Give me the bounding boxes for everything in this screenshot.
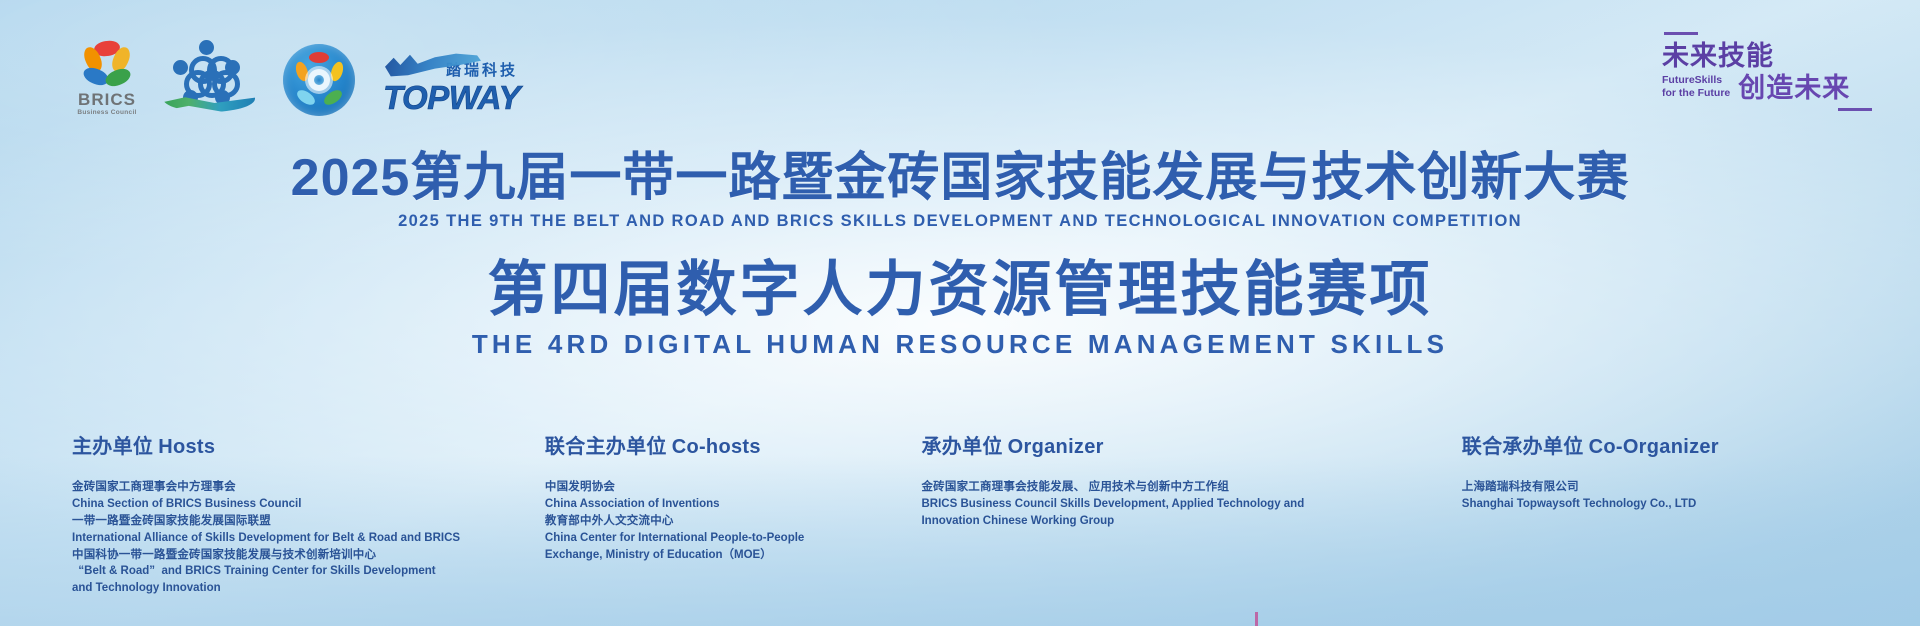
cast-training-center-logo: [283, 44, 355, 116]
organizer-heading-cn: 联合主办单位: [545, 436, 667, 458]
organizer-heading: 承办单位Organizer: [921, 430, 1435, 459]
organizer-line: “Belt & Road” and BRICS Training Center …: [72, 563, 519, 580]
organizer-heading-cn: 主办单位: [72, 436, 153, 458]
organizer-line: 中国科协一带一路暨金砖国家技能发展与技术创新培训中心: [72, 547, 519, 564]
organizer-line: 一带一路暨金砖国家技能发展国际联盟: [72, 513, 519, 530]
topway-en-wordmark: TOPWAY: [383, 81, 520, 114]
main-title-en: 2025 THE 9TH THE BELT AND ROAD AND BRICS…: [0, 212, 1920, 231]
cast-disc-icon: [283, 44, 355, 116]
organizer-heading: 联合主办单位Co-hosts: [545, 430, 896, 459]
slogan-en: FutureSkills for the Future: [1662, 74, 1730, 102]
organizer-line: International Alliance of Skills Develop…: [72, 530, 519, 547]
organizer-line: 金砖国家工商理事会中方理事会: [72, 479, 519, 496]
organizer-heading-en: Hosts: [158, 436, 215, 458]
organizer-heading-cn: 承办单位: [921, 436, 1002, 458]
organizer-line: Shanghai Topwaysoft Technology Co., LTD: [1462, 496, 1822, 513]
slogan-bottom-rule: [1838, 108, 1872, 111]
organizer-line: Innovation Chinese Working Group: [921, 513, 1435, 530]
organizer-line: China Association of Inventions: [545, 496, 896, 513]
brics-business-council-logo: BRICS Business Council: [75, 40, 139, 116]
organizer-line: 上海踏瑞科技有限公司: [1462, 479, 1822, 496]
organizer-column-0: 主办单位Hosts金砖国家工商理事会中方理事会China Section of …: [72, 430, 545, 597]
organizer-columns: 主办单位Hosts金砖国家工商理事会中方理事会China Section of …: [0, 430, 1920, 597]
main-title-cn: 2025第九届一带一路暨金砖国家技能发展与技术创新大赛: [0, 150, 1920, 206]
organizer-line: BRICS Business Council Skills Developmen…: [921, 496, 1435, 513]
organizer-line: 中国发明协会: [545, 479, 896, 496]
bottom-accent-mark: [1255, 612, 1258, 626]
organizer-line: 金砖国家工商理事会技能发展、 应用技术与创新中方工作组: [921, 479, 1435, 496]
alliance-wave-icon: [163, 96, 255, 112]
competition-banner: BRICS Business Council: [0, 0, 1920, 626]
organizer-heading-cn: 联合承办单位: [1462, 436, 1584, 458]
brics-subtitle: Business Council: [75, 109, 139, 116]
organizer-heading-en: Co-Organizer: [1589, 436, 1719, 458]
organizer-heading: 主办单位Hosts: [72, 430, 519, 459]
topway-logo: 踏瑞科技 TOPWAY: [383, 59, 520, 114]
organizer-line: China Center for International People-to…: [545, 530, 896, 547]
organizer-line: Exchange, Ministry of Education（MOE）: [545, 547, 896, 564]
futureskills-slogan: 未来技能 FutureSkills for the Future 创造未来: [1662, 32, 1872, 111]
slogan-cn-line-1: 未来技能: [1662, 42, 1872, 72]
organizer-line: 教育部中外人文交流中心: [545, 513, 896, 530]
organizer-heading: 联合承办单位Co-Organizer: [1462, 430, 1822, 459]
slogan-top-rule: [1664, 32, 1698, 35]
international-alliance-logo: [167, 36, 255, 116]
organizer-heading-en: Co-hosts: [672, 436, 761, 458]
brics-wordmark: BRICS: [75, 91, 139, 109]
organizer-line: China Section of BRICS Business Council: [72, 496, 519, 513]
brics-star-icon: [79, 40, 135, 90]
title-block: 2025第九届一带一路暨金砖国家技能发展与技术创新大赛 2025 THE 9TH…: [0, 150, 1920, 360]
organizer-column-1: 联合主办单位Co-hosts中国发明协会China Association of…: [545, 430, 922, 597]
sponsor-logo-strip: BRICS Business Council: [75, 36, 520, 116]
organizer-line: and Technology Innovation: [72, 580, 519, 597]
organizer-column-2: 承办单位Organizer金砖国家工商理事会技能发展、 应用技术与创新中方工作组…: [921, 430, 1461, 597]
organizer-column-3: 联合承办单位Co-Organizer上海踏瑞科技有限公司Shanghai Top…: [1462, 430, 1848, 597]
slogan-cn-line-2: 创造未来: [1738, 74, 1850, 102]
sub-title-en: THE 4RD DIGITAL HUMAN RESOURCE MANAGEMEN…: [0, 329, 1920, 360]
organizer-heading-en: Organizer: [1008, 436, 1104, 458]
sub-title-cn: 第四届数字人力资源管理技能赛项: [0, 257, 1920, 323]
